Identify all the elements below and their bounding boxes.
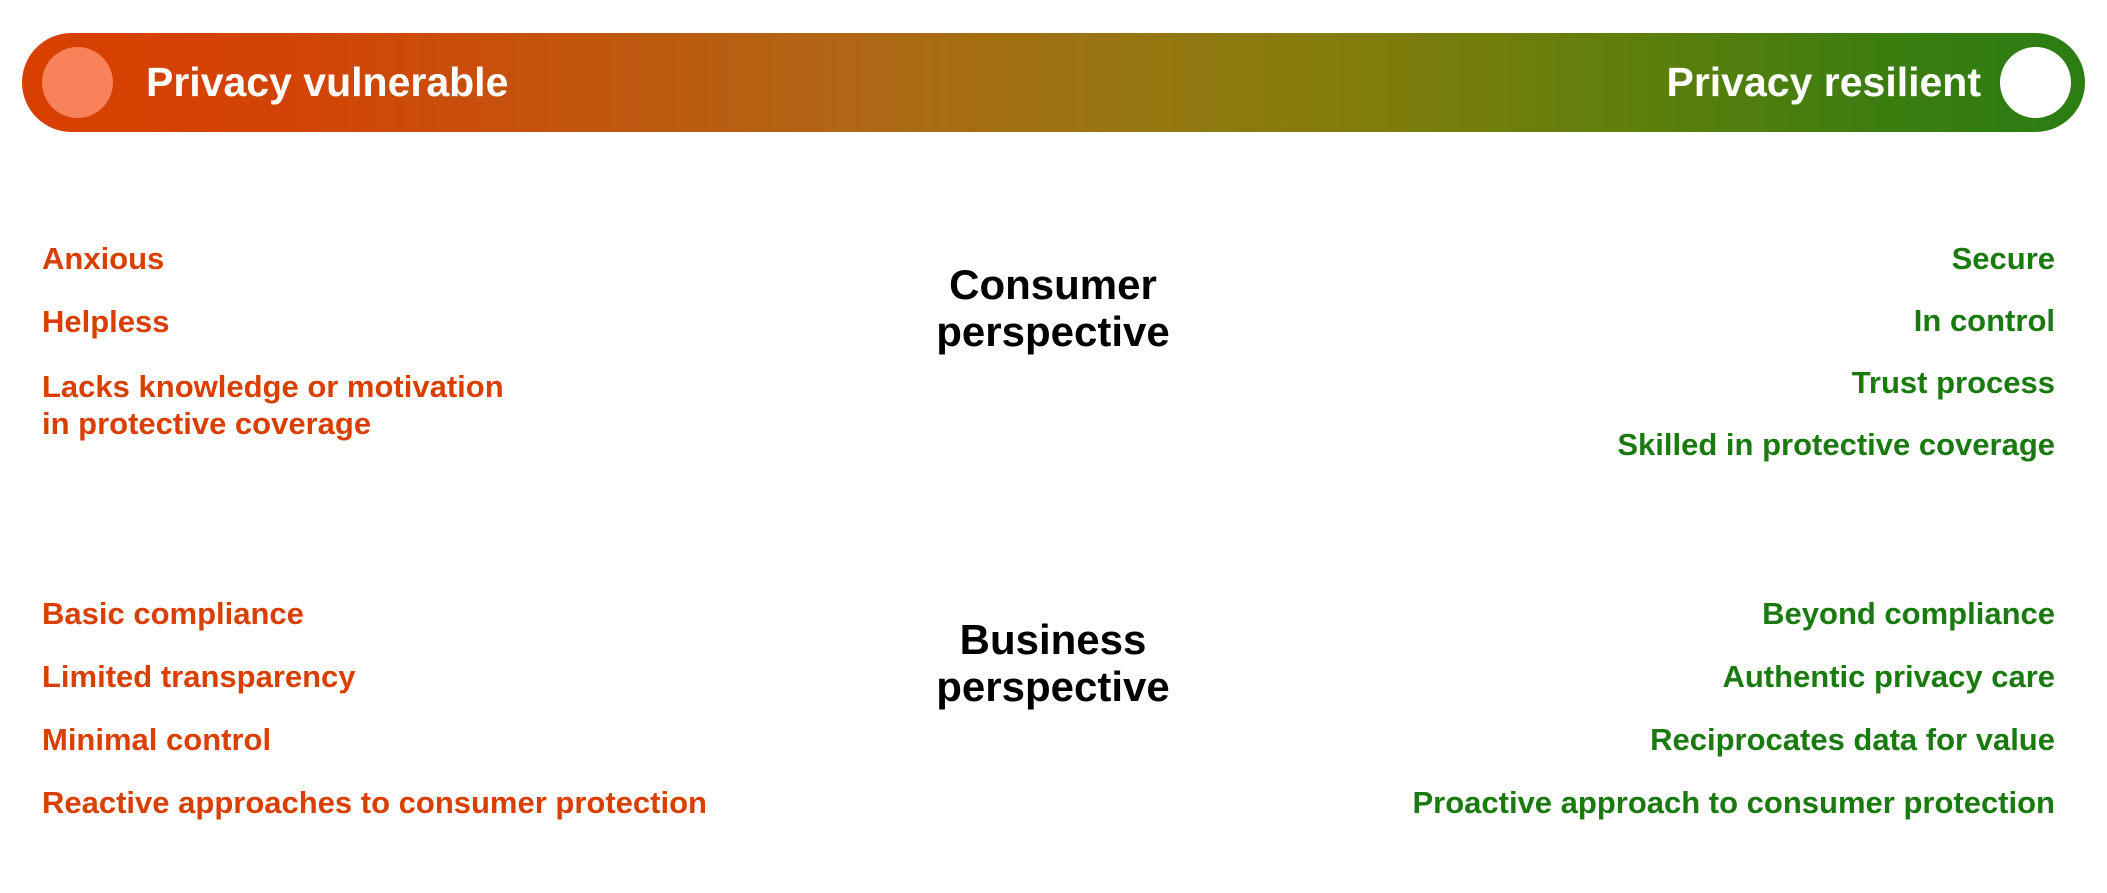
- trait-item: Basic compliance: [42, 598, 882, 629]
- trait-item: In control: [1055, 305, 2055, 336]
- spectrum-right-knob-icon: [2000, 47, 2071, 118]
- trait-item: Reactive approaches to consumer protecti…: [42, 787, 882, 818]
- trait-item: Authentic privacy care: [1055, 661, 2055, 692]
- trait-item: Minimal control: [42, 724, 882, 755]
- trait-item: Helpless: [42, 306, 882, 337]
- trait-item: Reciprocates data for value: [1055, 724, 2055, 755]
- trait-item: Lacks knowledge or motivation in protect…: [42, 369, 882, 442]
- trait-item: Beyond compliance: [1055, 598, 2055, 629]
- trait-item: Secure: [1055, 243, 2055, 274]
- spectrum-right-label: Privacy resilient: [1666, 33, 1981, 132]
- trait-item: Proactive approach to consumer protectio…: [1055, 787, 2055, 818]
- business-resilient-traits: Beyond compliance Authentic privacy care…: [1055, 598, 2055, 850]
- trait-item: Limited transparency: [42, 661, 882, 692]
- trait-item: Skilled in protective coverage: [1055, 429, 2055, 460]
- business-vulnerable-traits: Basic compliance Limited transparency Mi…: [42, 598, 882, 850]
- consumer-vulnerable-traits: Anxious Helpless Lacks knowledge or moti…: [42, 243, 882, 474]
- privacy-spectrum-bar: Privacy vulnerable Privacy resilient: [22, 33, 2085, 132]
- trait-item: Trust process: [1055, 367, 2055, 398]
- trait-item: Anxious: [42, 243, 882, 274]
- spectrum-left-knob-icon: [42, 47, 113, 118]
- consumer-resilient-traits: Secure In control Trust process Skilled …: [1055, 243, 2055, 491]
- spectrum-left-label: Privacy vulnerable: [146, 33, 508, 132]
